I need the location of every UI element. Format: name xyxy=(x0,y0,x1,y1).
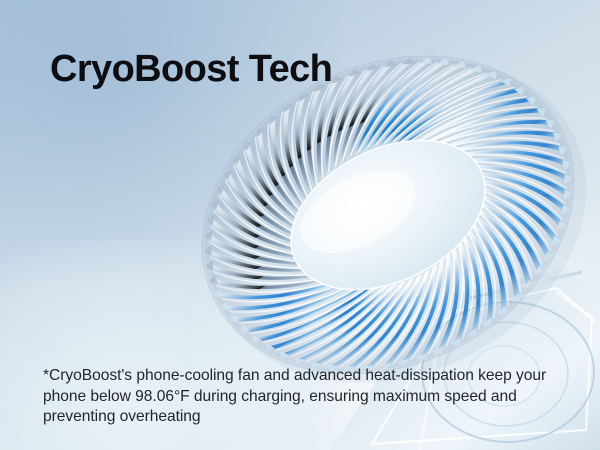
page-title: CryoBoost Tech xyxy=(50,48,332,90)
cryoboost-promo-banner: CryoBoost Tech *CryoBoost's phone-coolin… xyxy=(0,0,600,450)
disclaimer-caption: *CryoBoost's phone-cooling fan and advan… xyxy=(43,366,583,428)
